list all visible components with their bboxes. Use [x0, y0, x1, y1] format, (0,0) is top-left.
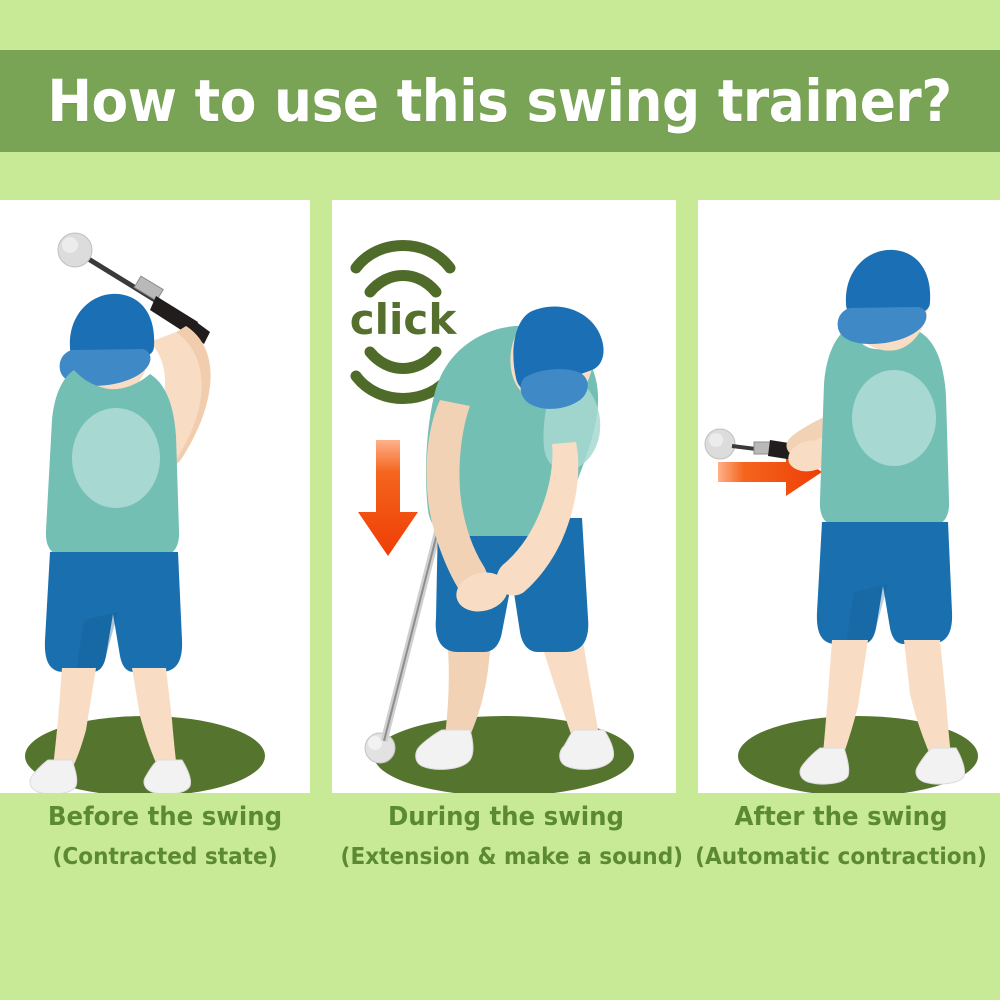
caption-title-during: During the swing: [341, 800, 672, 834]
shirt-highlight: [852, 370, 936, 466]
sound-arc-upper-inner: [370, 276, 436, 293]
caption-during: During the swing (Extension & make a sou…: [330, 800, 682, 900]
caption-after: After the swing (Automatic contraction): [682, 800, 1000, 900]
sound-arc-upper-outer: [356, 246, 450, 269]
panel-gap-2: [676, 200, 698, 793]
click-label: click: [350, 295, 458, 344]
caption-before: Before the swing (Contracted state): [0, 800, 330, 900]
panel-after-the-swing: [698, 200, 1000, 793]
head-and-cap: [838, 250, 931, 351]
caption-subtitle-before: (Contracted state): [10, 840, 320, 874]
panel-before-the-swing: [0, 200, 310, 793]
shorts: [45, 552, 182, 672]
arrow-down: [358, 440, 418, 556]
caption-subtitle-after: (Automatic contraction): [692, 840, 991, 874]
caption-title-before: Before the swing: [10, 800, 320, 834]
shirt-highlight: [72, 408, 160, 508]
header-banner: How to use this swing trainer?: [0, 50, 1000, 152]
cap-crown: [846, 250, 930, 312]
caption-subtitle-during: (Extension & make a sound): [341, 840, 672, 874]
page-title: How to use this swing trainer?: [48, 67, 952, 135]
golf-ball: [365, 733, 395, 763]
panel-gap-1: [310, 200, 332, 793]
captions-row: Before the swing (Contracted state) Duri…: [0, 800, 1000, 900]
shorts: [817, 522, 952, 644]
sound-arc-lower-inner: [370, 352, 436, 369]
panel-during-the-swing: click: [332, 200, 676, 793]
caption-title-after: After the swing: [692, 800, 991, 834]
panels-row: click: [0, 200, 1000, 793]
cap-crown: [70, 294, 154, 356]
